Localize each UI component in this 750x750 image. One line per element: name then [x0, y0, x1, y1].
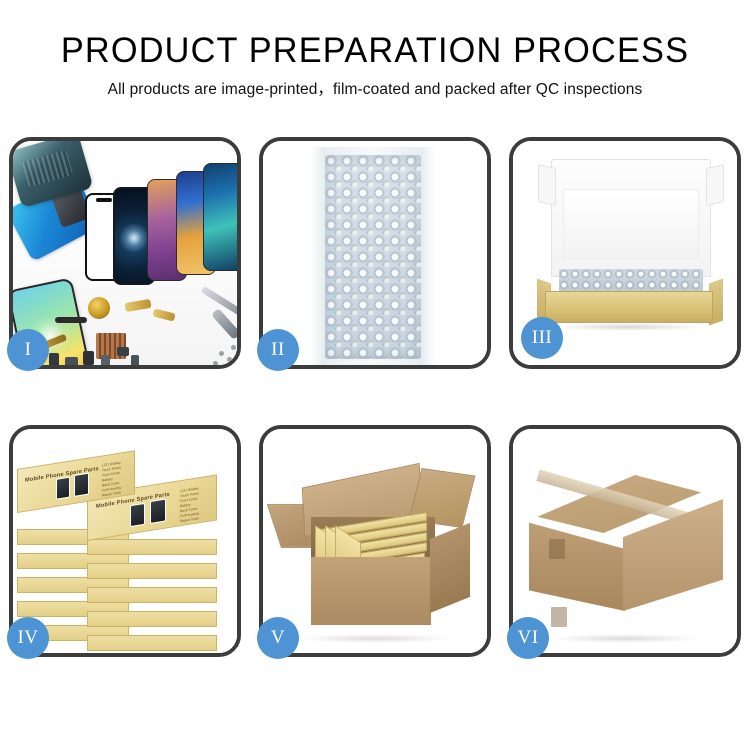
small-part [49, 353, 59, 365]
step-panel-iv[interactable]: Mobile Phone Spare Parts LCD Display Tou… [9, 425, 241, 657]
mailer-front-wall [545, 291, 713, 323]
step-panel-vi[interactable]: VI [509, 425, 741, 657]
small-part [117, 347, 129, 356]
screen-photo [56, 477, 70, 500]
bubble-wrap-sheet [325, 155, 421, 359]
step-badge-i: I [7, 329, 49, 371]
screen-photo [150, 498, 166, 524]
step-panel-ii[interactable]: II [259, 137, 491, 369]
carton-hand-hole [551, 607, 567, 627]
open-carton-scene [263, 429, 487, 653]
drop-shadow [553, 323, 705, 331]
small-part [83, 351, 94, 365]
screw [219, 351, 224, 356]
screw [227, 357, 232, 362]
screwdriver-tool [211, 308, 237, 340]
retail-box [87, 539, 217, 555]
screen-photo [130, 503, 145, 527]
page-title: PRODUCT PREPARATION PROCESS [8, 30, 743, 72]
retail-box [87, 635, 217, 651]
drop-shadow [550, 634, 700, 643]
step-badge-v: V [257, 617, 299, 659]
flex-cable-b [152, 308, 175, 321]
bag-seam-right [421, 147, 435, 365]
bag-seam-left [311, 147, 325, 365]
carton-left-face [529, 517, 625, 611]
sealed-carton-scene [513, 429, 737, 653]
retail-box-checklist: LCD Display Touch Panel Front Cover Batt… [102, 461, 121, 499]
step-image-iv: Mobile Phone Spare Parts LCD Display Tou… [13, 429, 237, 653]
vibration-motor [88, 297, 110, 319]
page-subtitle: All products are image-printed，film-coat… [0, 79, 750, 101]
phone-parts-scene [13, 141, 237, 365]
header: PRODUCT PREPARATION PROCESS All products… [0, 30, 750, 101]
step-image-ii [263, 141, 487, 365]
step-image-i [13, 141, 237, 365]
step-panel-iii[interactable]: III [509, 137, 741, 369]
bubble-wrap-scene [263, 141, 487, 365]
product-preparation-infographic: PRODUCT PREPARATION PROCESS All products… [0, 0, 750, 750]
step-badge-vi: VI [507, 617, 549, 659]
carton-right-wall [430, 523, 470, 613]
screen-photo [74, 473, 89, 497]
screw [213, 361, 218, 365]
screw [231, 345, 236, 350]
step-badge-iv: IV [7, 617, 49, 659]
retail-box [87, 587, 217, 603]
retail-box-checklist: LCD Display Touch Panel Front Cover Batt… [180, 486, 199, 524]
step-panel-v[interactable]: V [259, 425, 491, 657]
carton-hand-hole [549, 539, 565, 559]
step-badge-iii: III [521, 317, 563, 359]
step-panel-i[interactable]: I [9, 137, 241, 369]
earpiece-speaker [55, 317, 87, 323]
teal-gradient-phone [203, 163, 237, 271]
steps-grid: I II [9, 137, 741, 657]
small-part [131, 355, 139, 365]
carton-front-wall [311, 557, 431, 625]
retail-box-stack-scene: Mobile Phone Spare Parts LCD Display Tou… [13, 429, 237, 653]
retail-box [87, 563, 217, 579]
step-image-vi [513, 429, 737, 653]
small-part [101, 355, 110, 365]
step-badge-ii: II [257, 329, 299, 371]
drop-shadow [300, 634, 450, 643]
flex-cable-a [124, 299, 151, 312]
foam-sheet [563, 189, 699, 259]
step-image-v [263, 429, 487, 653]
retail-box [87, 611, 217, 627]
small-part [65, 357, 78, 365]
